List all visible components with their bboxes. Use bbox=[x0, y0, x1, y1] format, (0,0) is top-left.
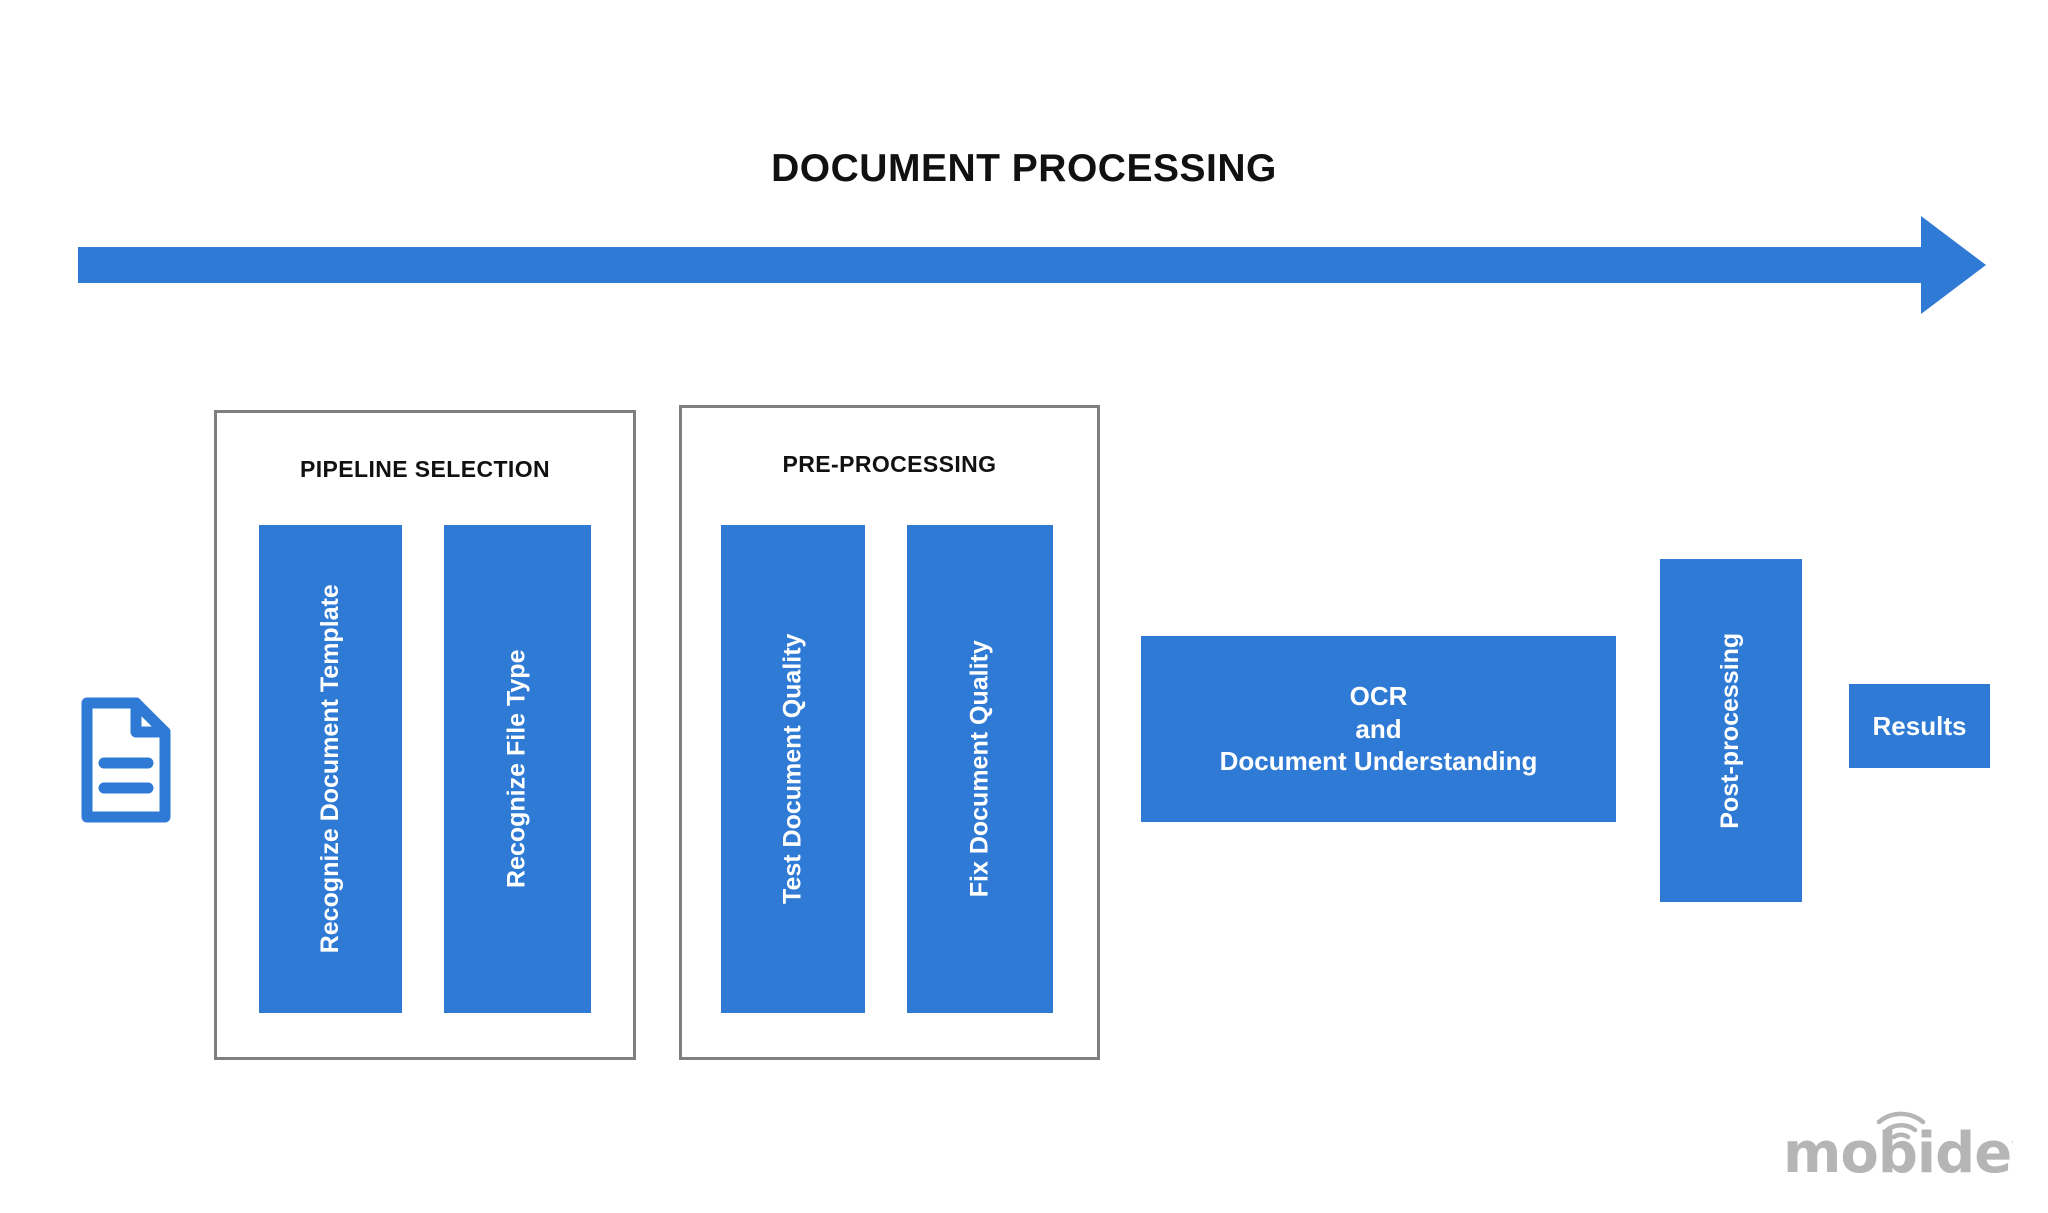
stage-recognize-document-template[interactable]: Recognize Document Template bbox=[259, 525, 402, 1013]
stage-ocr-line-1: OCR bbox=[1350, 681, 1408, 711]
stage-ocr-line-3: Document Understanding bbox=[1220, 746, 1538, 776]
group-pipeline-selection-title: PIPELINE SELECTION bbox=[217, 456, 633, 483]
mobidev-logo: mobidev bbox=[1783, 1100, 2013, 1182]
document-icon bbox=[78, 694, 174, 826]
stage-test-document-quality[interactable]: Test Document Quality bbox=[721, 525, 865, 1013]
diagram-canvas: DOCUMENT PROCESSING PIPELINE SELECTION P… bbox=[0, 0, 2048, 1213]
stage-results-label: Results bbox=[1873, 710, 1967, 743]
mobidev-logo-text: mobidev bbox=[1783, 1121, 2013, 1182]
stage-post-processing-label: Post-processing bbox=[1715, 633, 1747, 829]
stage-ocr-and-document-understanding[interactable]: OCR and Document Understanding bbox=[1141, 636, 1616, 822]
process-direction-arrow bbox=[78, 216, 1986, 314]
stage-test-document-quality-label: Test Document Quality bbox=[777, 634, 809, 904]
stage-fix-document-quality-label: Fix Document Quality bbox=[964, 641, 996, 898]
stage-recognize-file-type-label: Recognize File Type bbox=[502, 650, 534, 888]
stage-post-processing[interactable]: Post-processing bbox=[1660, 559, 1802, 902]
stage-fix-document-quality[interactable]: Fix Document Quality bbox=[907, 525, 1053, 1013]
stage-results[interactable]: Results bbox=[1849, 684, 1990, 768]
stage-ocr-line-2: and bbox=[1355, 714, 1401, 744]
group-pre-processing-title: PRE-PROCESSING bbox=[682, 451, 1097, 478]
page-title: DOCUMENT PROCESSING bbox=[0, 147, 2048, 191]
stage-ocr-label-wrapper: OCR and Document Understanding bbox=[1220, 680, 1538, 778]
stage-recognize-file-type[interactable]: Recognize File Type bbox=[444, 525, 591, 1013]
stage-recognize-document-template-label: Recognize Document Template bbox=[315, 584, 347, 953]
